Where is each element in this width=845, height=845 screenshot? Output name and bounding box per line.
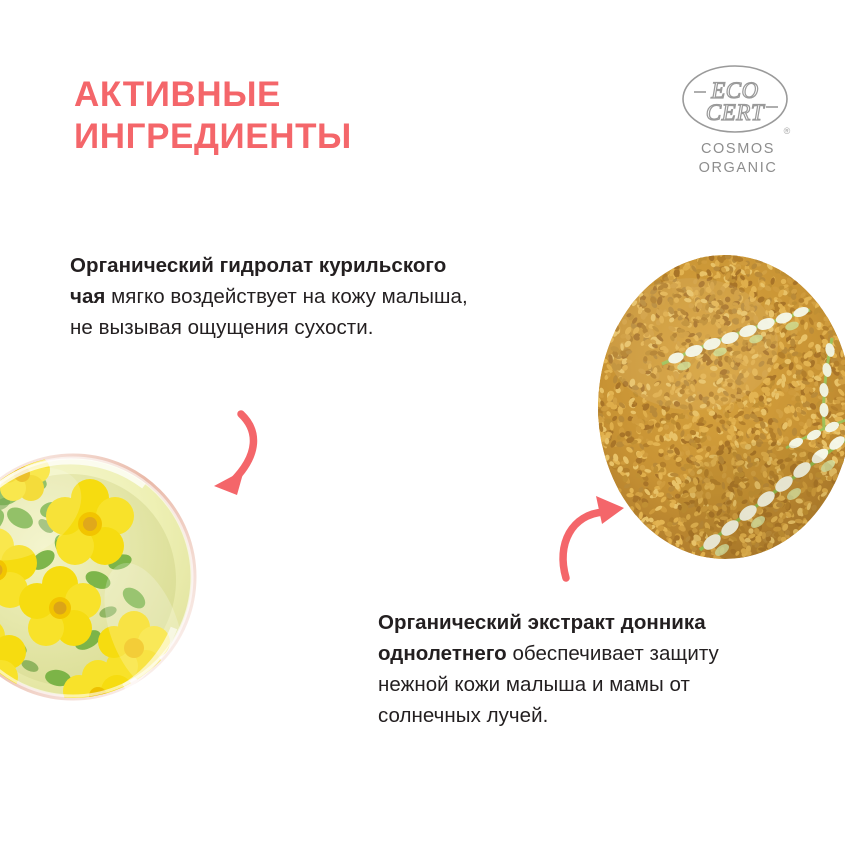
ecocert-sub-line-1: COSMOS (676, 140, 800, 159)
ecocert-oval-icon: ECO CERT ® (676, 62, 800, 140)
registered-mark-icon: ® (784, 126, 791, 136)
sweet-clover-seeds-image (596, 252, 845, 568)
ecocert-sub-line-2: ORGANIC (676, 159, 800, 178)
ingredient-body-kuril-tea: мягко воздействует на кожу малыша, не вы… (70, 285, 468, 339)
ingredients-infographic-slide: АКТИВНЫЕ ИНГРЕДИЕНТЫ ECO CERT ® COSMOS O… (0, 0, 845, 845)
svg-text:CERT: CERT (706, 100, 766, 125)
ecocert-cosmos-organic-logo: ECO CERT ® COSMOS ORGANIC (676, 62, 800, 184)
page-title-line-2: ИНГРЕДИЕНТЫ (74, 116, 494, 158)
ingredient-description-kuril-tea: Органический гидролат курильского чая мя… (70, 250, 470, 343)
page-title-line-1: АКТИВНЫЕ (74, 74, 494, 116)
kuril-tea-flower-bowl-image (0, 452, 198, 742)
curved-arrow-down-left-icon (196, 396, 326, 508)
page-title: АКТИВНЫЕ ИНГРЕДИЕНТЫ (74, 74, 494, 158)
ingredient-description-sweet-clover: Органический экстракт донника однолетнег… (378, 607, 778, 731)
